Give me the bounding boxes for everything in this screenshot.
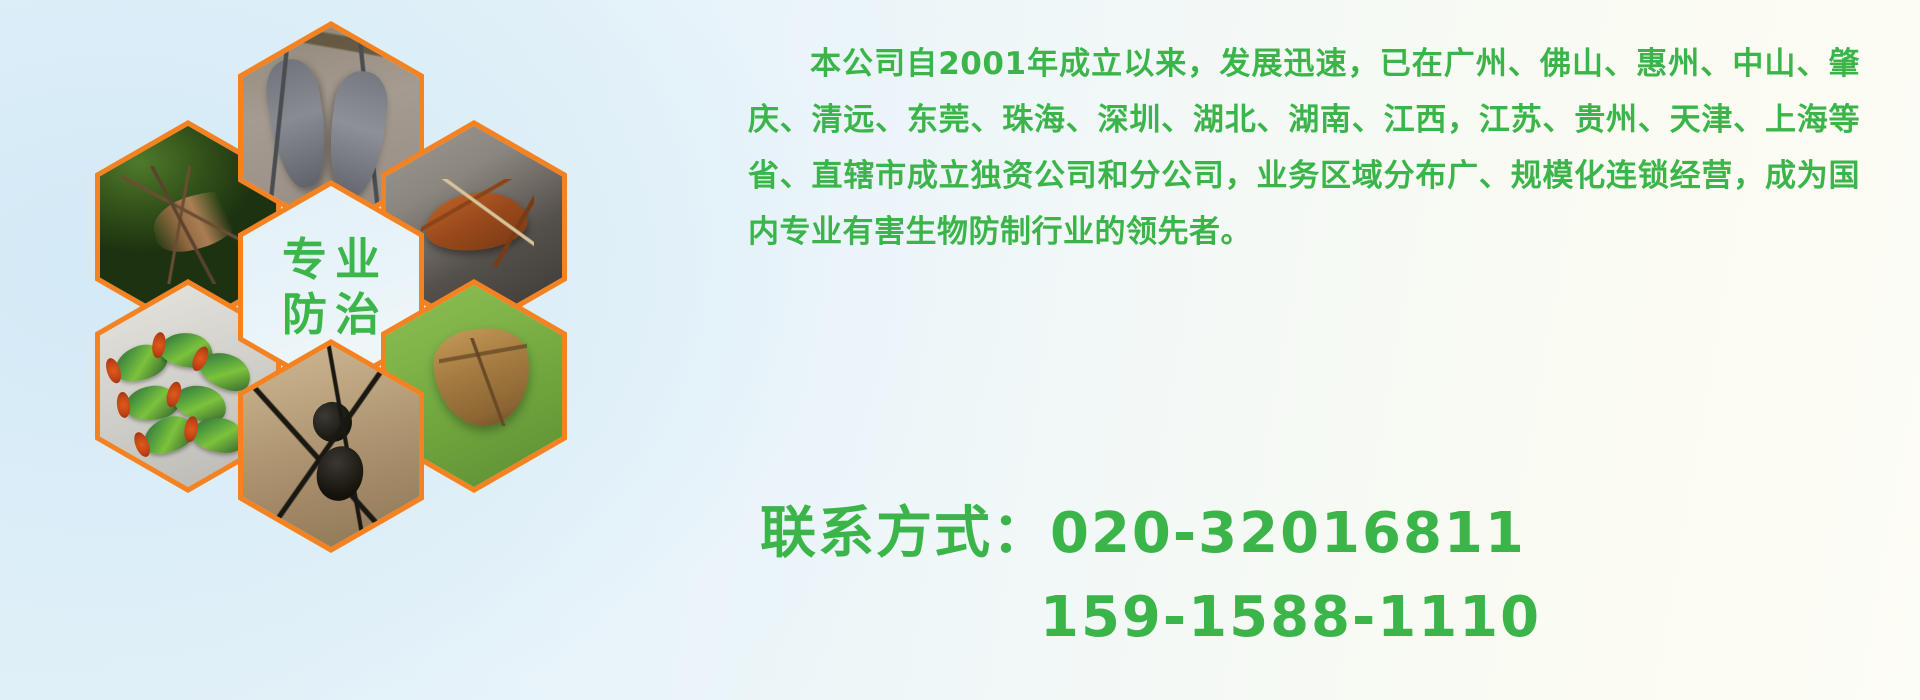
slogan-line-1: 专业	[274, 237, 388, 282]
slogan-line-2: 防治	[274, 292, 388, 337]
intro-paragraph: 本公司自2001年成立以来，发展迅速，已在广州、佛山、惠州、中山、肇庆、清远、东…	[748, 36, 1860, 260]
company-intro: 本公司自2001年成立以来，发展迅速，已在广州、佛山、惠州、中山、肇庆、清远、东…	[748, 36, 1860, 260]
contact-line-landline: 联系方式：020-32016811	[760, 492, 1860, 576]
promo-banner: 专业 防治 本公司自2001年成立以来，发展迅速，已在广州、佛山、惠州、中山、肇…	[0, 0, 1920, 700]
honeycomb-graphic: 专业 防治	[95, 0, 595, 572]
contact-line-mobile: 159-1588-1110	[760, 576, 1860, 660]
ant-photo	[243, 345, 419, 547]
contact-block: 联系方式：020-32016811 159-1588-1110	[760, 492, 1860, 660]
ant-legs-detail	[243, 345, 419, 547]
